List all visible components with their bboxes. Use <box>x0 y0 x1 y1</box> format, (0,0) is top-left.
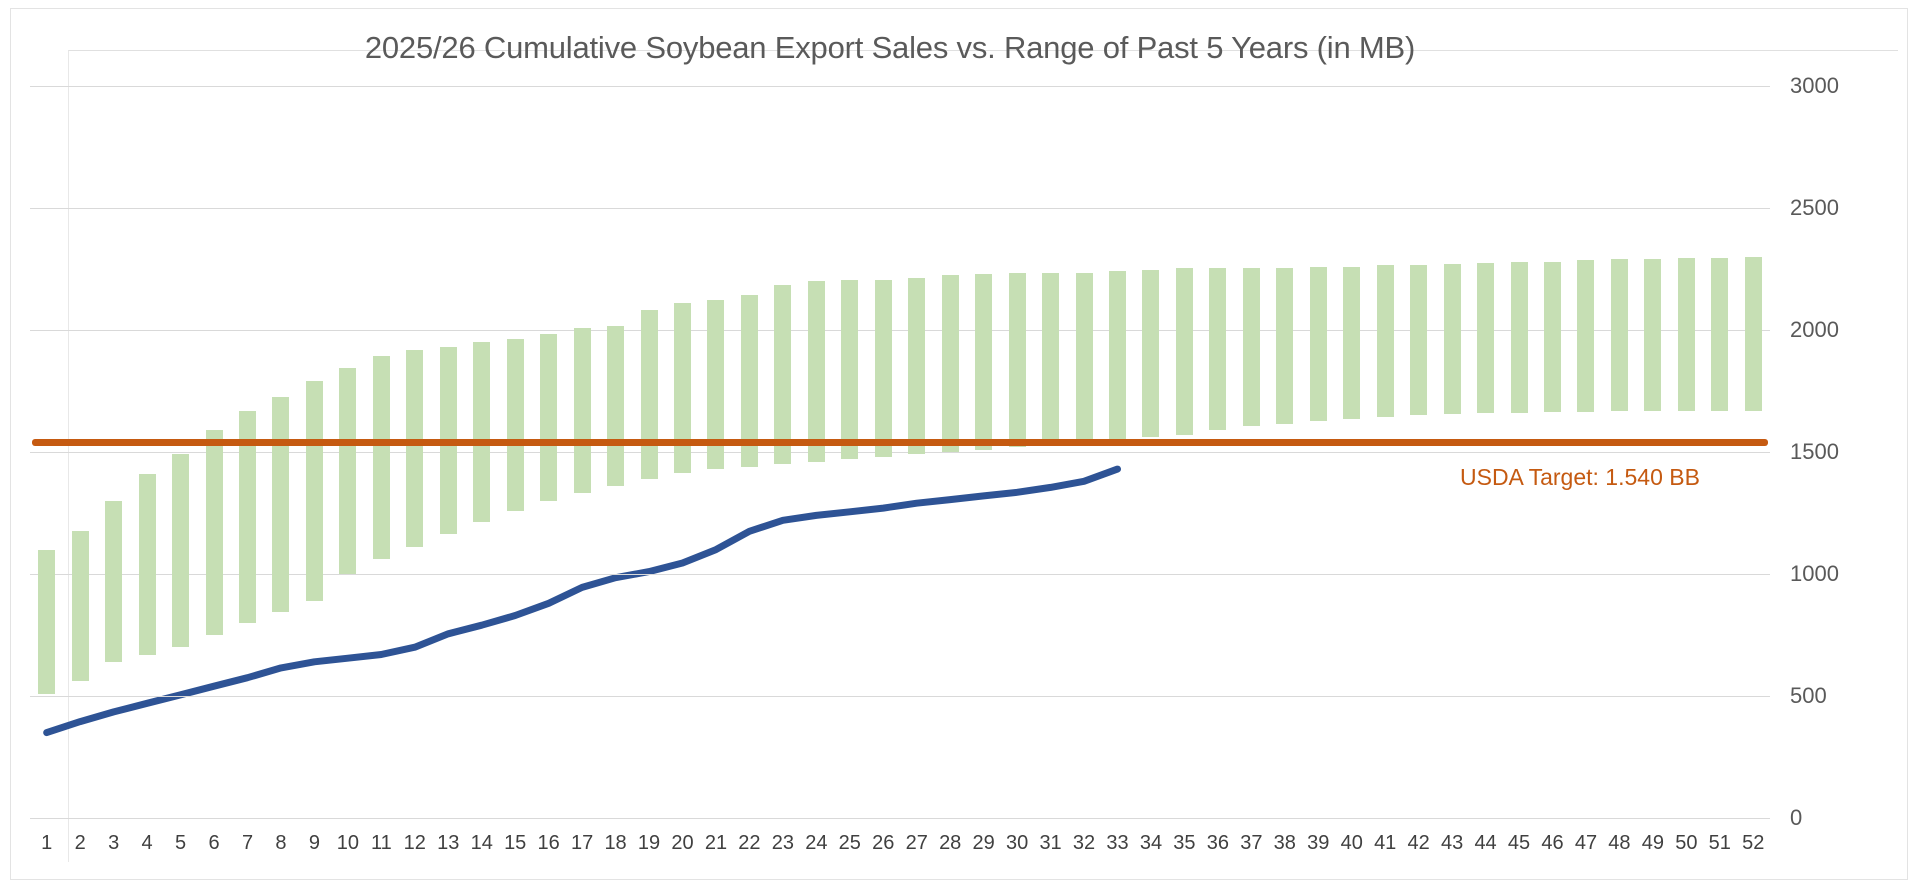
range-bar <box>373 356 390 560</box>
plot-area <box>30 86 1770 818</box>
x-axis-tick-label: 40 <box>1341 832 1363 855</box>
range-bar <box>206 430 223 635</box>
x-axis-tick-label: 45 <box>1508 832 1530 855</box>
x-axis-tick-label: 39 <box>1307 832 1329 855</box>
x-axis-tick-label: 2 <box>75 832 86 855</box>
range-bar <box>105 501 122 662</box>
chart-title: 2025/26 Cumulative Soybean Export Sales … <box>0 30 1780 66</box>
gridline-1500 <box>30 452 1770 453</box>
x-axis-tick-label: 14 <box>471 832 493 855</box>
x-axis-tick-label: 18 <box>604 832 626 855</box>
x-axis-tick-label: 20 <box>671 832 693 855</box>
range-bar <box>942 275 959 452</box>
y-axis-tick-label: 3000 <box>1790 73 1839 99</box>
gridline-1000 <box>30 574 1770 575</box>
range-bar <box>1142 270 1159 437</box>
x-axis-tick-label: 15 <box>504 832 526 855</box>
range-bar <box>641 310 658 478</box>
range-bar <box>1611 259 1628 410</box>
range-bar <box>172 454 189 647</box>
range-bar <box>1209 268 1226 430</box>
range-bar <box>540 334 557 501</box>
range-bar <box>1511 262 1528 413</box>
x-axis-tick-label: 30 <box>1006 832 1028 855</box>
range-bar <box>1343 267 1360 420</box>
range-bar <box>574 328 591 494</box>
range-bar <box>674 303 691 473</box>
x-axis-tick-label: 32 <box>1073 832 1095 855</box>
range-bar <box>1544 262 1561 412</box>
x-axis-tick-label: 16 <box>538 832 560 855</box>
range-bar <box>1042 273 1059 445</box>
range-bar <box>808 281 825 462</box>
x-axis-tick-label: 1 <box>41 832 52 855</box>
x-axis-tick-label: 24 <box>805 832 827 855</box>
usda-target-label: USDA Target: 1.540 BB <box>1460 464 1700 491</box>
gridline-2500 <box>30 208 1770 209</box>
chart-container: 2025/26 Cumulative Soybean Export Sales … <box>0 0 1920 896</box>
x-axis-tick-label: 37 <box>1240 832 1262 855</box>
y-axis-tick-label: 1000 <box>1790 561 1839 587</box>
range-bar <box>473 342 490 521</box>
gridline-2000 <box>30 330 1770 331</box>
range-bar <box>139 474 156 655</box>
x-axis-tick-label: 17 <box>571 832 593 855</box>
x-axis-tick-label: 31 <box>1039 832 1061 855</box>
range-bar <box>1410 265 1427 415</box>
y-axis-tick-label: 1500 <box>1790 439 1839 465</box>
x-axis-tick-label: 52 <box>1742 832 1764 855</box>
gridline-500 <box>30 696 1770 697</box>
x-axis-tick-label: 3 <box>108 832 119 855</box>
x-axis-tick-label: 28 <box>939 832 961 855</box>
x-axis-tick-label: 47 <box>1575 832 1597 855</box>
x-axis-tick-label: 13 <box>437 832 459 855</box>
x-axis-tick-label: 46 <box>1541 832 1563 855</box>
usda-target-line <box>32 439 1768 446</box>
x-axis-tick-label: 10 <box>337 832 359 855</box>
x-axis-tick-label: 29 <box>973 832 995 855</box>
x-axis-tick-label: 6 <box>208 832 219 855</box>
range-bar <box>1577 260 1594 411</box>
range-bar <box>1109 271 1126 439</box>
range-bar <box>1678 258 1695 411</box>
x-axis-tick-label: 12 <box>404 832 426 855</box>
x-axis-tick-label: 34 <box>1140 832 1162 855</box>
range-bar <box>272 397 289 612</box>
gridline-0 <box>30 818 1770 819</box>
x-axis-tick-label: 36 <box>1207 832 1229 855</box>
x-axis-tick-label: 50 <box>1675 832 1697 855</box>
range-bar <box>507 339 524 511</box>
x-axis-tick-label: 21 <box>705 832 727 855</box>
x-axis-tick-label: 33 <box>1106 832 1128 855</box>
range-bar <box>975 274 992 450</box>
x-axis-tick-label: 8 <box>275 832 286 855</box>
x-axis-tick-label: 26 <box>872 832 894 855</box>
x-axis-tick-label: 11 <box>371 832 392 855</box>
range-bar <box>1444 264 1461 414</box>
y-axis-tick-label: 500 <box>1790 683 1827 709</box>
range-bar <box>1711 258 1728 411</box>
range-bar <box>1076 273 1093 443</box>
range-bar <box>72 531 89 681</box>
x-axis-tick-label: 22 <box>738 832 760 855</box>
x-axis-tick-label: 27 <box>906 832 928 855</box>
x-axis-tick-label: 51 <box>1709 832 1731 855</box>
range-bar <box>406 350 423 548</box>
range-bar <box>1644 259 1661 410</box>
range-bar <box>339 368 356 574</box>
range-bar <box>1477 263 1494 413</box>
x-axis-tick-label: 5 <box>175 832 186 855</box>
y-axis-tick-label: 0 <box>1790 805 1802 831</box>
x-axis-tick-label: 9 <box>309 832 320 855</box>
range-bar <box>1310 267 1327 422</box>
range-bar <box>38 550 55 694</box>
range-bar <box>774 285 791 464</box>
x-axis-tick-label: 35 <box>1173 832 1195 855</box>
x-axis-tick-label: 43 <box>1441 832 1463 855</box>
x-axis-tick-label: 4 <box>142 832 153 855</box>
gridline-3000 <box>30 86 1770 87</box>
range-bar <box>607 326 624 486</box>
y-axis-tick-label: 2500 <box>1790 195 1839 221</box>
x-axis-tick-label: 23 <box>772 832 794 855</box>
range-bar <box>1276 268 1293 424</box>
x-axis-tick-label: 48 <box>1608 832 1630 855</box>
x-axis-tick-label: 49 <box>1642 832 1664 855</box>
x-axis-tick-label: 44 <box>1474 832 1496 855</box>
range-bar <box>1176 268 1193 435</box>
x-axis-tick-label: 19 <box>638 832 660 855</box>
range-bar <box>875 280 892 457</box>
x-axis-tick-label: 42 <box>1408 832 1430 855</box>
x-axis-tick-label: 7 <box>242 832 253 855</box>
range-bar <box>306 381 323 601</box>
x-axis-tick-label: 25 <box>839 832 861 855</box>
range-bar <box>908 278 925 455</box>
y-axis-tick-label: 2000 <box>1790 317 1839 343</box>
range-bar <box>1745 257 1762 411</box>
x-axis-tick-label: 38 <box>1274 832 1296 855</box>
range-bar <box>1243 268 1260 427</box>
x-axis-tick-label: 41 <box>1374 832 1396 855</box>
range-bar <box>1377 265 1394 416</box>
range-bar <box>841 280 858 459</box>
range-bar <box>1009 273 1026 447</box>
